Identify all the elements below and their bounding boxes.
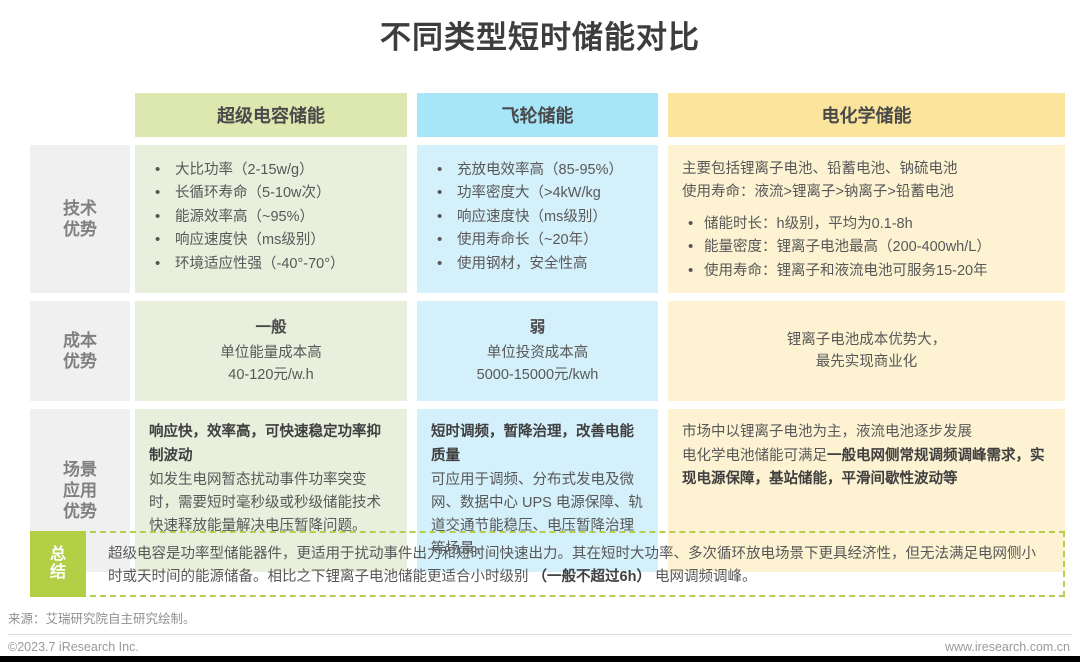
list-item: 储能时长：h级别，平均为0.1-8h xyxy=(682,213,1055,236)
intro-line: 使用寿命：液流>锂离子>钠离子>铅蓄电池 xyxy=(682,181,1053,204)
scenario-lead: 短时调频，暂降治理，改善电能质量 xyxy=(431,421,645,467)
cost-rating: 弱 xyxy=(530,316,546,340)
scenario-line2-normal: 电化学电池储能可满足 xyxy=(682,448,827,464)
cost-detail-line: 最先实现商业化 xyxy=(816,351,918,373)
page-title: 不同类型短时储能对比 xyxy=(0,12,1080,57)
summary-badge-line2: 结 xyxy=(50,564,66,581)
summary-badge: 总 结 xyxy=(30,531,86,597)
footer-divider xyxy=(8,634,1072,635)
list-item: 充放电效率高（85-95%） xyxy=(431,159,648,182)
list-item: 大比功率（2-15w/g） xyxy=(149,159,397,182)
grid-header-row: 超级电容储能 飞轮储能 电化学储能 xyxy=(30,93,1065,137)
row-label-line2: 优势 xyxy=(63,352,97,371)
cost-detail-line: 单位能量成本高 xyxy=(220,342,322,364)
comparison-grid: 超级电容储能 飞轮储能 电化学储能 技术 优势 大比功率（2-15w/g） 长循… xyxy=(30,93,1065,572)
row-technical-advantage: 技术 优势 大比功率（2-15w/g） 长循环寿命（5-10w次） 能源效率高（… xyxy=(30,145,1065,293)
tech-electro-list: 储能时长：h级别，平均为0.1-8h 能量密度：锂离子电池最高（200-400w… xyxy=(668,213,1065,293)
cost-advantage-cells: 一般 单位能量成本高 40-120元/w.h 弱 单位投资成本高 5000-15… xyxy=(135,301,1065,401)
list-item: 功率密度大（>4kW/kg xyxy=(431,182,648,205)
list-item: 使用寿命长（~20年） xyxy=(431,229,648,252)
row-label-line1: 技术 xyxy=(63,199,97,218)
list-item: 使用寿命：锂离子和液流电池可服务15-20年 xyxy=(682,260,1055,283)
cost-detail-line: 锂离子电池成本优势大， xyxy=(787,329,947,351)
summary-text-part2: 电网调频调峰。 xyxy=(651,569,757,585)
column-header-electrochemical: 电化学储能 xyxy=(668,93,1065,137)
infographic-page: 不同类型短时储能对比 超级电容储能 飞轮储能 电化学储能 技术 优势 xyxy=(0,0,1080,662)
summary-text: 超级电容是功率型储能器件，更适用于扰动事件出力和短时间快速出力。其在短时大功率、… xyxy=(86,533,1063,595)
cell-cost-electrochemical: 锂离子电池成本优势大， 最先实现商业化 xyxy=(668,301,1065,401)
cell-tech-flywheel: 充放电效率高（85-95%） 功率密度大（>4kW/kg 响应速度快（ms级别）… xyxy=(417,145,658,293)
list-item: 响应速度快（ms级别） xyxy=(149,229,397,252)
source-note: 来源：艾瑞研究院自主研究绘制。 xyxy=(8,608,196,627)
intro-line: 主要包括锂离子电池、铅蓄电池、钠硫电池 xyxy=(682,158,1053,181)
technical-advantage-cells: 大比功率（2-15w/g） 长循环寿命（5-10w次） 能源效率高（~95%） … xyxy=(135,145,1065,293)
row-label-line2: 应用 xyxy=(63,481,97,500)
cell-cost-supercapacitor: 一般 单位能量成本高 40-120元/w.h xyxy=(135,301,407,401)
cost-detail-line: 单位投资成本高 xyxy=(487,342,589,364)
summary-box: 总 结 超级电容是功率型储能器件，更适用于扰动事件出力和短时间快速出力。其在短时… xyxy=(30,531,1065,597)
row-label-spacer xyxy=(30,93,130,137)
summary-badge-line1: 总 xyxy=(50,546,66,563)
tech-electro-intro: 主要包括锂离子电池、铅蓄电池、钠硫电池 使用寿命：液流>锂离子>钠离子>铅蓄电池 xyxy=(668,145,1065,213)
row-label-line3: 优势 xyxy=(63,502,97,521)
row-cost-advantage: 成本 优势 一般 单位能量成本高 40-120元/w.h 弱 单位投资成本高 5… xyxy=(30,301,1065,401)
row-label-technical-advantage: 技术 优势 xyxy=(30,145,130,293)
copyright-text: ©2023.7 iResearch Inc. xyxy=(8,640,139,654)
tech-supercap-list: 大比功率（2-15w/g） 长循环寿命（5-10w次） 能源效率高（~95%） … xyxy=(135,145,407,286)
cell-cost-flywheel: 弱 单位投资成本高 5000-15000元/kwh xyxy=(417,301,658,401)
scenario-electro-text: 市场中以锂离子电池为主，液流电池逐步发展 电化学电池储能可满足一般电网侧常规调频… xyxy=(668,409,1065,501)
bottom-bar xyxy=(0,656,1080,662)
cell-tech-supercapacitor: 大比功率（2-15w/g） 长循环寿命（5-10w次） 能源效率高（~95%） … xyxy=(135,145,407,293)
list-item: 长循环寿命（5-10w次） xyxy=(149,182,397,205)
scenario-supercap-text: 响应快，效率高，可快速稳定功率抑制波动 如发生电网暂态扰动事件功率突变时，需要短… xyxy=(135,409,407,548)
column-header-flywheel: 飞轮储能 xyxy=(417,93,658,137)
scenario-line1: 市场中以锂离子电池为主，液流电池逐步发展 xyxy=(682,421,1052,444)
row-label-line1: 场景 xyxy=(63,460,97,479)
list-item: 能源效率高（~95%） xyxy=(149,206,397,229)
row-label-line1: 成本 xyxy=(63,331,97,350)
column-header-supercapacitor: 超级电容储能 xyxy=(135,93,407,137)
list-item: 使用钢材，安全性高 xyxy=(431,253,648,276)
cell-tech-electrochemical: 主要包括锂离子电池、铅蓄电池、钠硫电池 使用寿命：液流>锂离子>钠离子>铅蓄电池… xyxy=(668,145,1065,293)
scenario-body: 如发生电网暂态扰动事件功率突变时，需要短时毫秒级或秒级储能技术快速释放能量解决电… xyxy=(149,472,381,534)
cost-value-line: 40-120元/w.h xyxy=(228,364,313,386)
tech-flywheel-list: 充放电效率高（85-95%） 功率密度大（>4kW/kg 响应速度快（ms级别）… xyxy=(417,145,658,286)
list-item: 能量密度：锂离子电池最高（200-400wh/L） xyxy=(682,236,1055,259)
cost-value-line: 5000-15000元/kwh xyxy=(477,364,599,386)
summary-text-bold: （一般不超过6h） xyxy=(533,569,651,585)
row-label-cost-advantage: 成本 优势 xyxy=(30,301,130,401)
list-item: 环境适应性强（-40°-70°） xyxy=(149,253,397,276)
website-url: www.iresearch.com.cn xyxy=(945,640,1070,654)
cost-rating: 一般 xyxy=(255,316,286,340)
scenario-lead: 响应快，效率高，可快速稳定功率抑制波动 xyxy=(149,421,394,467)
list-item: 响应速度快（ms级别） xyxy=(431,206,648,229)
row-label-line2: 优势 xyxy=(63,220,97,239)
header-cells: 超级电容储能 飞轮储能 电化学储能 xyxy=(135,93,1065,137)
